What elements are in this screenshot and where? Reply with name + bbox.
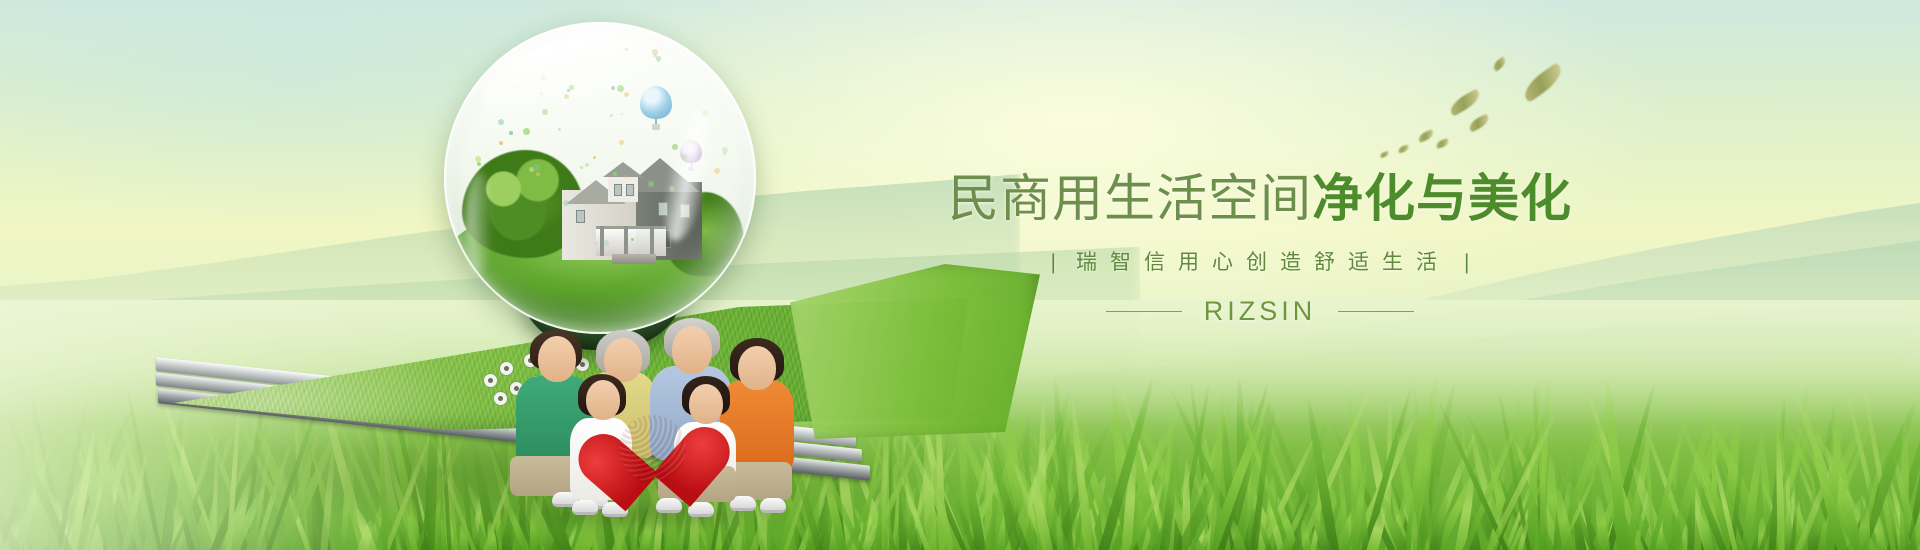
grass-blade	[1516, 520, 1530, 550]
flying-leaf	[1491, 56, 1508, 72]
grass-blade	[1249, 516, 1272, 550]
grass-blade	[1710, 442, 1751, 550]
grass-blade	[1531, 385, 1546, 550]
grass-blade	[1365, 506, 1390, 550]
grass-blade	[1721, 399, 1743, 550]
grass-blade	[1807, 402, 1838, 550]
grass-blade	[1906, 481, 1920, 550]
grass-blade	[1695, 394, 1777, 550]
sparkle-particle	[563, 200, 569, 206]
grass-blade	[1713, 464, 1739, 550]
grass-blade	[62, 435, 99, 550]
grass-blade	[1644, 429, 1656, 550]
grass-blade	[1248, 406, 1277, 550]
grass-blade	[1200, 509, 1218, 550]
sparkle-particle	[523, 128, 530, 135]
grass-blade	[1511, 440, 1567, 550]
balloon-basket	[688, 167, 693, 171]
grass-blade	[1859, 503, 1871, 550]
grass-blade	[1749, 497, 1775, 550]
grass-blade	[1758, 518, 1768, 550]
grass-blade	[1233, 454, 1263, 550]
grass-blade	[1473, 451, 1511, 550]
grass-blade	[1169, 453, 1184, 550]
grass-blade	[1374, 487, 1411, 550]
sparkle-particle	[509, 131, 513, 135]
grass-blade	[1780, 468, 1791, 550]
house-steps	[612, 254, 656, 264]
grass-blade	[1236, 480, 1254, 550]
sparkle-particle	[540, 92, 543, 95]
grass-blade	[79, 392, 154, 550]
grass-blade	[1020, 507, 1031, 550]
grass-blade	[1125, 437, 1164, 550]
brand-rule-left	[1106, 311, 1182, 312]
grass-blade	[83, 432, 127, 550]
grass-blade	[1498, 394, 1532, 550]
grass-blade	[1239, 480, 1262, 550]
grass-blade	[102, 518, 120, 550]
grass-blade	[1185, 462, 1231, 550]
grass-blade	[1017, 448, 1046, 550]
grass-blade	[1624, 420, 1656, 550]
grass-blade	[1299, 520, 1312, 550]
grass-blade	[1485, 510, 1507, 550]
grass-blade	[1612, 480, 1650, 550]
grass-blade	[1349, 407, 1360, 550]
grass-blade	[1552, 487, 1575, 550]
grass-blade	[1385, 402, 1392, 550]
grass-blade	[1094, 477, 1132, 550]
grass-blade	[1413, 383, 1458, 550]
grass-blade	[1818, 471, 1838, 550]
grass-blade	[1, 517, 19, 550]
mother-head	[738, 346, 776, 390]
grass-blade	[1813, 432, 1878, 550]
grass-blade	[1258, 415, 1312, 550]
grass-blade	[1797, 427, 1860, 550]
grass-blade	[1818, 475, 1845, 550]
grass-blade	[1578, 458, 1595, 550]
grass-blade	[1678, 421, 1744, 550]
grass-blade	[37, 450, 47, 550]
grass-blade	[68, 431, 98, 550]
grass-blade	[1262, 399, 1329, 550]
grass-blade	[1695, 499, 1715, 550]
banner-text-block: 民商用生活空间净化与美化 | 瑞智信用心创造舒适生活 | RIZSIN	[930, 168, 1590, 327]
grass-blade	[93, 503, 116, 550]
grass-blade	[1069, 410, 1120, 550]
grass-blade	[1134, 454, 1170, 550]
girl-shoe	[572, 500, 598, 515]
grass-blade	[1486, 465, 1507, 550]
grass-blade	[1627, 461, 1670, 550]
headline-bold-text: 净化与美化	[1312, 170, 1572, 227]
grass-blade	[1103, 466, 1141, 550]
grass-blade	[1593, 495, 1611, 550]
grass-blade	[120, 478, 144, 550]
grass-blade	[1360, 387, 1415, 550]
grass-blade	[1460, 410, 1524, 550]
grass-blade	[1411, 512, 1418, 550]
grass-blade	[1507, 480, 1544, 550]
grass-blade	[1174, 435, 1238, 550]
grass-blade	[979, 421, 1024, 550]
grass-blade	[1176, 390, 1237, 550]
grass-blade	[1170, 501, 1194, 550]
grass-blade	[1037, 402, 1047, 550]
grass-blade	[1150, 490, 1184, 550]
headline: 民商用生活空间净化与美化	[930, 168, 1590, 230]
grass-blade	[1538, 495, 1556, 550]
sparkle-particle	[619, 140, 624, 145]
grass-blade	[1677, 497, 1695, 550]
grass-blade	[1879, 481, 1909, 550]
flying-leaf	[1447, 88, 1483, 116]
grass-blade	[1793, 459, 1837, 550]
grass-blade	[1192, 522, 1211, 550]
sparkle-particle	[723, 152, 726, 155]
grass-blade	[1121, 454, 1139, 550]
grass-blade	[1175, 386, 1211, 550]
grass-blade	[1026, 464, 1054, 550]
grass-blade	[1038, 410, 1089, 550]
grass-blade	[1209, 380, 1227, 550]
grass-blade	[1729, 432, 1747, 550]
grass-blade	[91, 401, 119, 550]
grass-blade	[1861, 385, 1897, 550]
grass-blade	[0, 433, 46, 550]
grass-blade	[1012, 416, 1033, 550]
grass-blade	[1347, 418, 1418, 550]
grass-blade	[1860, 483, 1887, 550]
house-window	[626, 184, 634, 196]
grass-blade	[1852, 400, 1920, 550]
grass-blade	[1013, 462, 1050, 550]
grass-blade	[1798, 417, 1869, 550]
grass-blade	[1159, 437, 1182, 550]
grass-blade	[90, 445, 131, 550]
grass-blade	[1806, 445, 1836, 550]
grass-blade	[1790, 440, 1803, 550]
grass-blade	[1390, 487, 1418, 550]
grass-blade	[1205, 397, 1272, 550]
grass-blade	[1601, 377, 1628, 550]
grass-blade	[1793, 483, 1831, 550]
grass-blade	[1096, 521, 1115, 550]
grass-blade	[1252, 520, 1261, 550]
sparkle-particle	[595, 242, 598, 245]
grass-blade	[1641, 522, 1655, 550]
grass-blade	[1350, 460, 1370, 550]
subtitle: | 瑞智信用心创造舒适生活 |	[930, 248, 1590, 278]
balloon-basket	[652, 124, 660, 130]
sparkle-particle	[625, 48, 628, 51]
grass-blade	[55, 398, 90, 550]
grass-blade	[1570, 444, 1582, 550]
grass-blade	[1018, 450, 1033, 550]
grass-blade	[8, 512, 27, 550]
grass-blade	[1768, 397, 1788, 550]
grass-blade	[0, 427, 23, 550]
grass-blade	[1393, 431, 1422, 550]
house-window	[680, 204, 690, 218]
grass-blade	[46, 451, 97, 550]
sparkle-particle	[558, 128, 561, 131]
sparkle-particle	[499, 141, 503, 145]
grass-blade	[1168, 471, 1178, 550]
grass-blade	[1712, 419, 1717, 550]
grass-blade	[1264, 475, 1278, 550]
father-head	[538, 336, 576, 382]
grass-blade	[99, 439, 146, 550]
sparkle-particle	[672, 144, 678, 150]
grass-blade	[82, 435, 115, 550]
grass-blade	[1049, 421, 1114, 550]
grass-blade	[976, 447, 1030, 550]
brand-row: RIZSIN	[930, 296, 1590, 327]
grass-blade	[1294, 388, 1373, 550]
house-window	[576, 210, 585, 223]
grass-blade	[1413, 488, 1425, 550]
grass-blade	[1576, 496, 1593, 550]
grass-blade	[1484, 450, 1520, 550]
subtitle-right-bar: |	[1464, 248, 1469, 278]
grass-blade	[1545, 455, 1559, 550]
grass-blade	[1168, 388, 1250, 550]
sparkle-particle	[541, 75, 546, 80]
blue-hot-air-balloon	[640, 86, 672, 130]
grass-blade	[1457, 475, 1482, 550]
grass-blade	[1526, 376, 1543, 550]
grass-blade	[1553, 448, 1604, 550]
grass-blade	[1856, 449, 1887, 550]
grass-blade	[1428, 488, 1452, 550]
balloon-envelope	[640, 86, 672, 119]
grass-blade	[1899, 510, 1920, 550]
grass-blade	[1278, 493, 1310, 550]
grass-blade	[72, 394, 115, 550]
grass-blade	[1554, 481, 1574, 550]
grass-blade	[1098, 511, 1114, 550]
grass-blade	[1123, 507, 1148, 550]
grass-blade	[0, 494, 9, 550]
grass-blade	[1030, 434, 1073, 550]
grass-blade	[1332, 491, 1367, 550]
grass-blade	[1585, 391, 1646, 550]
grass-blade	[1050, 376, 1073, 550]
grass-blade	[1126, 398, 1206, 550]
grass-blade	[1820, 445, 1866, 550]
grass-blade	[121, 456, 144, 550]
grass-blade	[1414, 389, 1437, 550]
grass-blade	[993, 420, 1039, 550]
grass-blade	[1459, 427, 1476, 550]
grass-blade	[1058, 455, 1074, 550]
crystal-ball-glass	[444, 22, 756, 334]
flying-leaf	[1397, 144, 1409, 153]
grass-blade	[1513, 385, 1533, 550]
sparkle-particle	[567, 89, 570, 92]
grass-blade	[1588, 480, 1624, 550]
grass-blade	[1266, 504, 1286, 550]
grass-blade	[1351, 501, 1368, 550]
grass-blade	[1226, 516, 1248, 550]
grass-blade	[1807, 493, 1818, 550]
grass-blade	[1143, 471, 1153, 550]
grass-blade	[1182, 461, 1191, 550]
grass-blade	[1106, 407, 1184, 550]
sparkle-particle	[617, 85, 624, 92]
grass-blade	[1150, 438, 1209, 550]
grass-blade	[75, 412, 120, 550]
house-window	[658, 202, 668, 216]
grass-blade	[1203, 442, 1218, 550]
grass-blade	[1602, 503, 1623, 550]
daisy-flower	[484, 374, 497, 387]
grass-blade	[1798, 466, 1836, 550]
grass-blade	[1883, 496, 1899, 550]
grass-blade	[1813, 419, 1875, 550]
grass-blade	[1590, 441, 1631, 550]
grass-blade	[1774, 402, 1788, 550]
flying-leaf	[1519, 62, 1566, 103]
grass-blade	[1489, 508, 1511, 550]
grass-blade	[1075, 437, 1092, 550]
grass-blade	[1105, 393, 1152, 550]
mother-shoe	[760, 498, 786, 513]
grass-blade	[1103, 493, 1140, 550]
grass-blade	[1887, 511, 1909, 550]
grass-blade	[971, 489, 987, 550]
grass-blade	[1234, 377, 1248, 550]
grass-blade	[1830, 457, 1866, 550]
grass-blade	[1561, 476, 1598, 550]
grass-blade	[1558, 474, 1586, 550]
grass-blade	[1206, 501, 1219, 550]
grass-blade	[1003, 422, 1065, 550]
grass-blade	[9, 409, 62, 550]
grass-blade	[1329, 422, 1397, 550]
grass-blade	[1536, 412, 1549, 550]
grass-blade	[1030, 474, 1048, 550]
grass-blade	[1392, 515, 1400, 550]
grass-blade	[1374, 495, 1408, 550]
grass-blade	[1231, 433, 1269, 550]
grass-blade	[1277, 498, 1298, 550]
grass-blade	[66, 521, 79, 550]
grass-blade	[1097, 378, 1157, 550]
grass-blade	[1405, 391, 1431, 550]
grass-blade	[1786, 475, 1810, 550]
grass-blade	[1236, 397, 1293, 550]
grass-blade	[1821, 505, 1840, 550]
grass-blade	[1760, 481, 1789, 550]
grass-blade	[1098, 439, 1141, 550]
grass-blade	[55, 467, 74, 550]
grass-blade	[1218, 409, 1240, 550]
grass-blade	[1900, 417, 1910, 550]
grass-blade	[1553, 445, 1574, 550]
porch-post	[624, 226, 628, 256]
grass-blade	[1556, 476, 1595, 550]
grass-blade	[1069, 399, 1093, 550]
grandfather-head	[672, 326, 712, 374]
grass-blade	[977, 430, 1031, 550]
grass-blade	[1826, 412, 1862, 550]
grass-blade	[1806, 497, 1837, 550]
grass-blade	[1012, 465, 1052, 550]
grass-blade	[1273, 495, 1301, 550]
grass-blade	[1414, 415, 1444, 550]
grass-blade	[1108, 379, 1132, 550]
grass-blade	[1421, 431, 1478, 550]
grass-blade	[1655, 508, 1664, 550]
grass-blade	[1069, 442, 1090, 550]
grass-blade	[1402, 376, 1442, 550]
grass-blade	[1318, 466, 1352, 550]
grass-blade	[1666, 401, 1720, 550]
grass-blade	[1687, 464, 1697, 550]
grass-blade	[1114, 393, 1166, 550]
sparkle-particle	[657, 59, 660, 62]
grass-blade	[995, 497, 1006, 550]
grass-blade	[1825, 399, 1844, 550]
grass-blade	[1579, 402, 1660, 550]
grass-blade	[1648, 406, 1691, 550]
grass-blade	[1553, 484, 1566, 550]
grass-blade	[1454, 456, 1506, 550]
grass-blade	[1783, 503, 1793, 550]
grass-blade	[1693, 456, 1707, 550]
grass-blade	[49, 473, 85, 550]
grass-blade	[1538, 379, 1550, 550]
house-window	[614, 184, 622, 196]
grass-blade	[1779, 491, 1798, 550]
grass-blade	[1885, 389, 1920, 550]
grass-blade	[1013, 465, 1045, 550]
grass-blade	[1196, 520, 1217, 550]
grass-blade	[1858, 460, 1877, 550]
grass-blade	[1136, 441, 1170, 550]
sparkle-particle	[610, 114, 613, 117]
grass-blade	[1438, 403, 1511, 550]
grass-blade	[1633, 491, 1650, 550]
grass-blade	[1376, 440, 1418, 550]
grass-blade	[1775, 435, 1785, 550]
grass-blade	[1345, 388, 1369, 550]
grass-blade	[1021, 486, 1040, 550]
grass-blade	[1604, 383, 1658, 550]
grass-blade	[84, 437, 117, 550]
grass-blade	[1200, 436, 1221, 550]
grass-blade	[1430, 476, 1440, 550]
grass-blade	[1359, 503, 1371, 550]
grass-blade	[1487, 447, 1510, 550]
grass-blade	[14, 469, 25, 550]
grass-blade	[1140, 483, 1165, 550]
grass-blade	[1236, 398, 1272, 550]
grass-blade	[1430, 462, 1483, 550]
brand-rule-right	[1338, 311, 1414, 312]
grass-blade	[41, 514, 68, 550]
grass-blade	[1823, 516, 1842, 550]
grass-blade	[60, 516, 72, 550]
grass-blade	[1844, 422, 1905, 550]
grass-blade	[1699, 473, 1730, 550]
grass-blade	[1083, 506, 1100, 550]
grass-blade	[1757, 437, 1800, 550]
